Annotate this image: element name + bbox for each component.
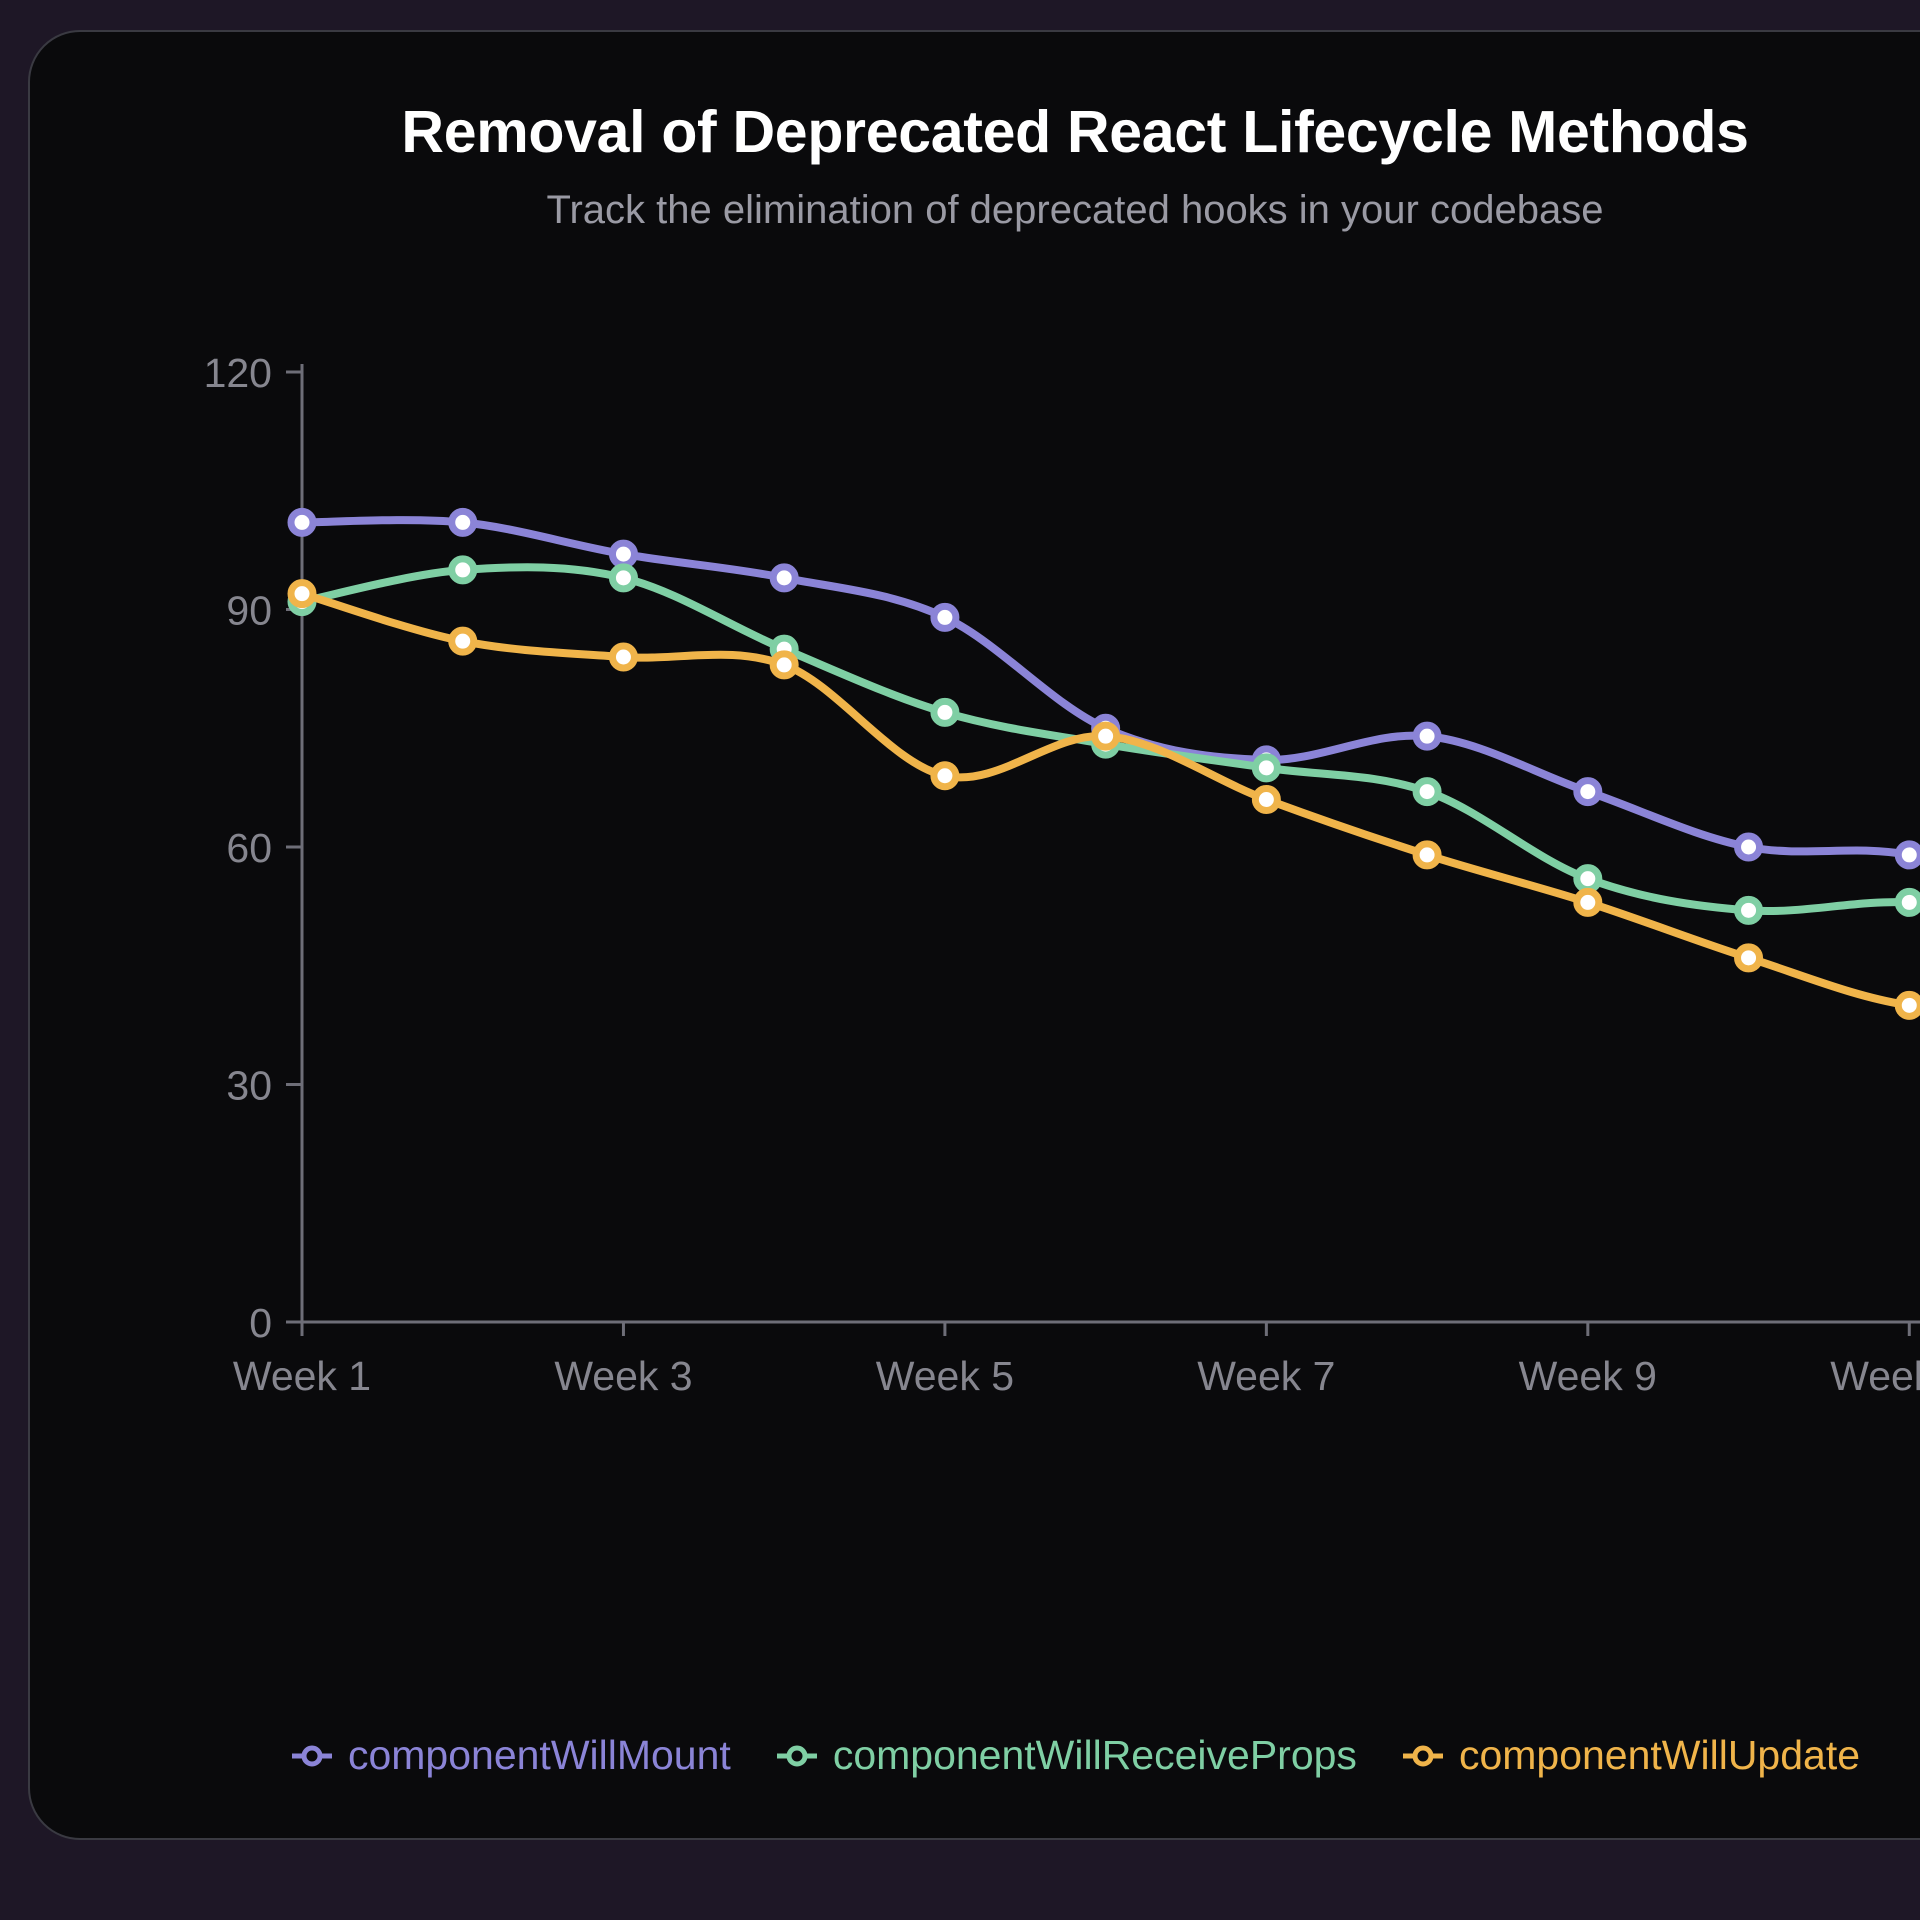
- data-point-marker: [1738, 947, 1760, 969]
- chart-header: Removal of Deprecated React Lifecycle Me…: [30, 100, 1920, 233]
- data-point-marker: [773, 654, 795, 676]
- line-chart[interactable]: 0306090120Week 1Week 3Week 5Week 7Week 9…: [30, 332, 1920, 1752]
- data-point-marker: [1255, 789, 1277, 811]
- chart-plot-area: 0306090120Week 1Week 3Week 5Week 7Week 9…: [30, 332, 1920, 1752]
- x-tick-label: Week 11: [1830, 1353, 1920, 1399]
- legend-label-1: componentWillReceiveProps: [833, 1732, 1357, 1779]
- legend-item-0[interactable]: componentWillMount: [290, 1732, 731, 1779]
- chart-legend: componentWillMount componentWillReceiveP…: [30, 1732, 1920, 1779]
- data-point-marker: [1416, 844, 1438, 866]
- series-line: [302, 594, 1920, 1009]
- data-point-marker: [1255, 757, 1277, 779]
- data-point-marker: [291, 511, 313, 533]
- series-0: [291, 511, 1920, 921]
- legend-marker-icon-0: [290, 1743, 334, 1769]
- x-tick-label: Week 5: [876, 1353, 1014, 1399]
- data-point-marker: [452, 559, 474, 581]
- data-point-marker: [1577, 868, 1599, 890]
- data-point-marker: [1738, 836, 1760, 858]
- chart-subtitle: Track the elimination of deprecated hook…: [30, 187, 1920, 233]
- data-point-marker: [773, 567, 795, 589]
- legend-item-2[interactable]: componentWillUpdate: [1401, 1732, 1860, 1779]
- data-point-marker: [452, 630, 474, 652]
- data-point-marker: [612, 543, 634, 565]
- data-point-marker: [1577, 891, 1599, 913]
- legend-item-1[interactable]: componentWillReceiveProps: [775, 1732, 1357, 1779]
- data-point-marker: [612, 646, 634, 668]
- data-point-marker: [934, 701, 956, 723]
- page-root: Removal of Deprecated React Lifecycle Me…: [0, 0, 1920, 1920]
- y-tick-label: 120: [204, 350, 272, 396]
- chart-card: Removal of Deprecated React Lifecycle Me…: [28, 30, 1920, 1840]
- data-point-marker: [934, 606, 956, 628]
- data-point-marker: [1095, 725, 1117, 747]
- data-point-marker: [612, 567, 634, 589]
- page-title: Removal of Deprecated React Lifecycle Me…: [30, 100, 1920, 165]
- legend-marker-icon-1: [775, 1743, 819, 1769]
- x-tick-label: Week 7: [1197, 1353, 1335, 1399]
- x-tick-label: Week 9: [1519, 1353, 1657, 1399]
- data-point-marker: [1416, 781, 1438, 803]
- data-point-marker: [1898, 891, 1920, 913]
- data-point-marker: [1898, 844, 1920, 866]
- y-tick-label: 90: [226, 588, 272, 634]
- y-tick-label: 60: [226, 825, 272, 871]
- x-tick-label: Week 1: [233, 1353, 371, 1399]
- data-point-marker: [1738, 899, 1760, 921]
- x-tick-label: Week 3: [554, 1353, 692, 1399]
- series-2: [291, 583, 1920, 1017]
- data-point-marker: [934, 765, 956, 787]
- legend-marker-icon-2: [1401, 1743, 1445, 1769]
- y-tick-label: 0: [249, 1300, 272, 1346]
- legend-label-2: componentWillUpdate: [1459, 1732, 1860, 1779]
- data-point-marker: [452, 511, 474, 533]
- data-point-marker: [1898, 994, 1920, 1016]
- legend-label-0: componentWillMount: [348, 1732, 731, 1779]
- data-point-marker: [291, 583, 313, 605]
- y-tick-label: 30: [226, 1063, 272, 1109]
- data-point-marker: [1577, 781, 1599, 803]
- data-point-marker: [1416, 725, 1438, 747]
